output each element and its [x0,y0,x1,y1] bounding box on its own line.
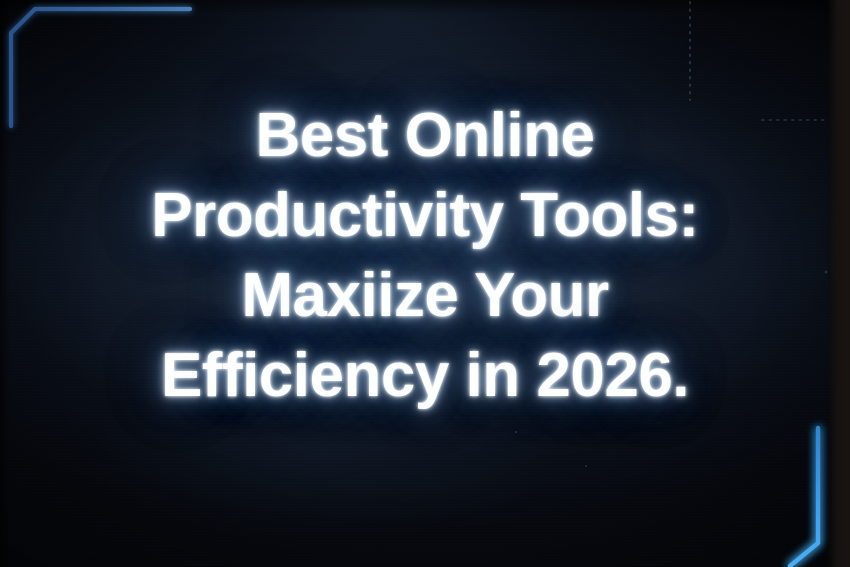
headline-line-1: Best Online [0,96,850,176]
top-edge-shade [0,0,850,14]
headline-block: Best Online Productivity Tools: Maxiize … [0,96,850,416]
headline-line-3: Maxiize Your [0,256,850,336]
headline-line-2: Productivity Tools: [0,176,850,256]
hero-banner: Best Online Productivity Tools: Maxiize … [0,0,850,567]
headline-line-4: Efficiency in 2026. [0,336,850,416]
